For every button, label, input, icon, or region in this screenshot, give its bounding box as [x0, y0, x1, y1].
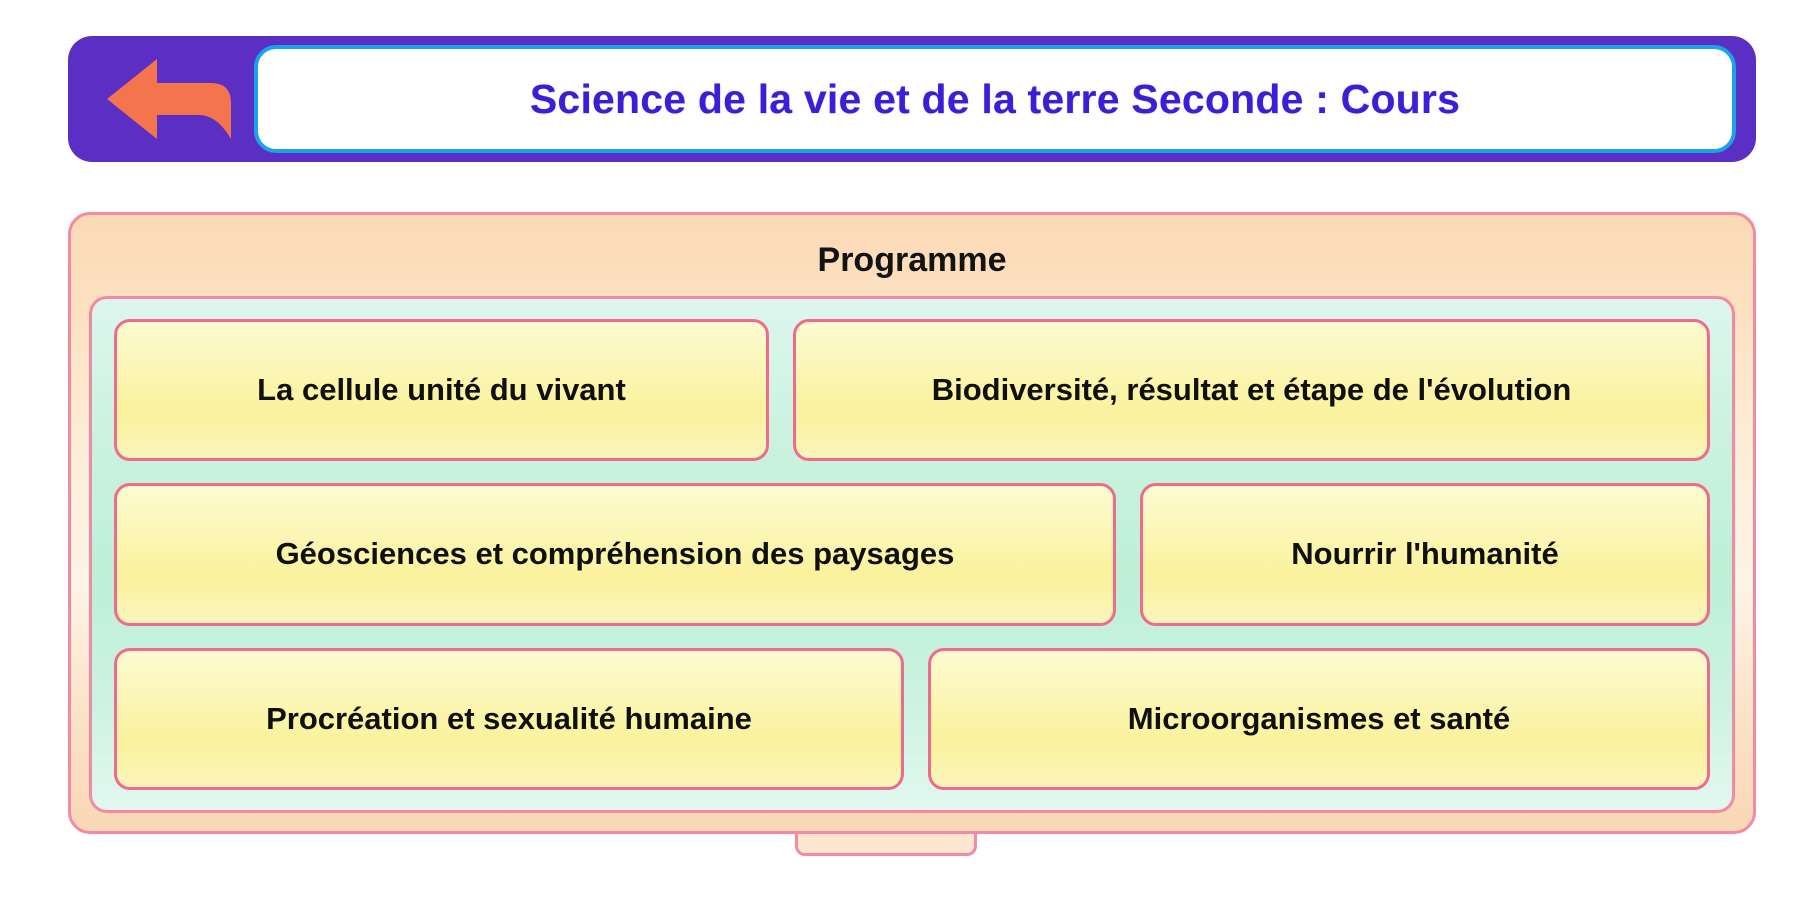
programme-heading: Programme — [89, 231, 1735, 296]
topic-label: Nourrir l'humanité — [1291, 536, 1558, 572]
topic-button-geosciences[interactable]: Géosciences et compréhension des paysage… — [114, 483, 1116, 625]
topic-row: Géosciences et compréhension des paysage… — [114, 483, 1710, 625]
panel-bottom-stub — [795, 834, 977, 856]
topic-button-cellule[interactable]: La cellule unité du vivant — [114, 319, 769, 461]
header-bar: Science de la vie et de la terre Seconde… — [68, 36, 1756, 162]
programme-panel: Programme La cellule unité du vivant Bio… — [68, 212, 1756, 834]
back-arrow-icon — [99, 53, 239, 145]
topic-button-procreation[interactable]: Procréation et sexualité humaine — [114, 648, 904, 790]
topic-button-biodiversite[interactable]: Biodiversité, résultat et étape de l'évo… — [793, 319, 1710, 461]
topic-label: Biodiversité, résultat et étape de l'évo… — [932, 372, 1572, 408]
back-button[interactable] — [94, 49, 244, 149]
topic-button-microorganismes[interactable]: Microorganismes et santé — [928, 648, 1710, 790]
topic-row: La cellule unité du vivant Biodiversité,… — [114, 319, 1710, 461]
page-title: Science de la vie et de la terre Seconde… — [530, 76, 1460, 123]
topic-button-nourrir-humanite[interactable]: Nourrir l'humanité — [1140, 483, 1710, 625]
topic-row: Procréation et sexualité humaine Microor… — [114, 648, 1710, 790]
app-root: Science de la vie et de la terre Seconde… — [0, 0, 1800, 900]
topic-label: Géosciences et compréhension des paysage… — [276, 536, 955, 572]
topic-label: La cellule unité du vivant — [257, 372, 626, 408]
page-title-pill: Science de la vie et de la terre Seconde… — [254, 45, 1736, 153]
topic-label: Microorganismes et santé — [1128, 701, 1510, 737]
topics-panel: La cellule unité du vivant Biodiversité,… — [89, 296, 1735, 813]
topic-label: Procréation et sexualité humaine — [266, 701, 752, 737]
